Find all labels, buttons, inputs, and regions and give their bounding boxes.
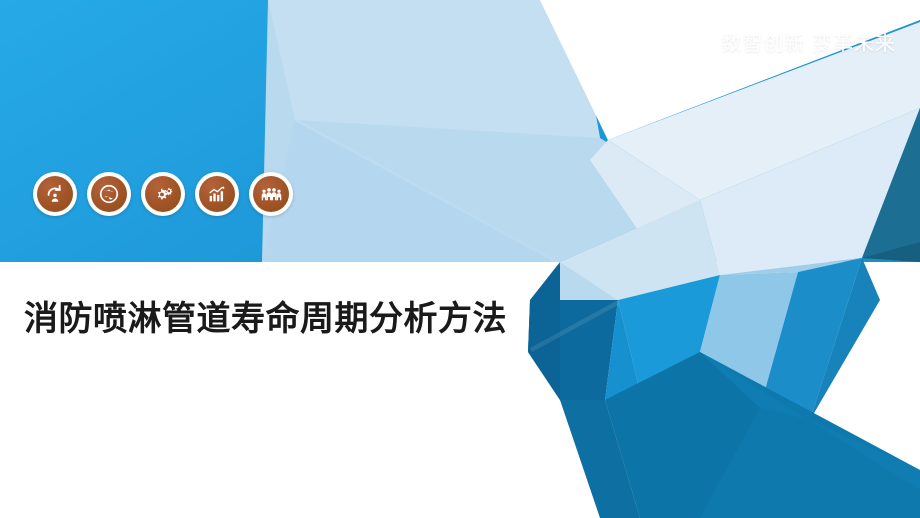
bar-chart-growth-icon-disc — [199, 176, 235, 212]
gears-icon-disc — [145, 176, 181, 212]
polygon-background-artwork — [0, 0, 920, 518]
presentation-title-slide: 数智创新 变革未来 — [0, 0, 920, 518]
page-title: 消防喷淋管道寿命周期分析方法 — [24, 295, 544, 344]
people-group-icon-disc — [253, 176, 289, 212]
globe-icon[interactable] — [87, 172, 131, 216]
people-group-icon[interactable] — [249, 172, 293, 216]
globe-icon-disc — [91, 176, 127, 212]
gears-icon[interactable] — [141, 172, 185, 216]
recycle-person-icon-disc — [37, 176, 73, 212]
icon-row — [33, 172, 293, 216]
bar-chart-growth-icon[interactable] — [195, 172, 239, 216]
slide-tagline: 数智创新 变革未来 — [721, 27, 896, 56]
recycle-person-icon[interactable] — [33, 172, 77, 216]
